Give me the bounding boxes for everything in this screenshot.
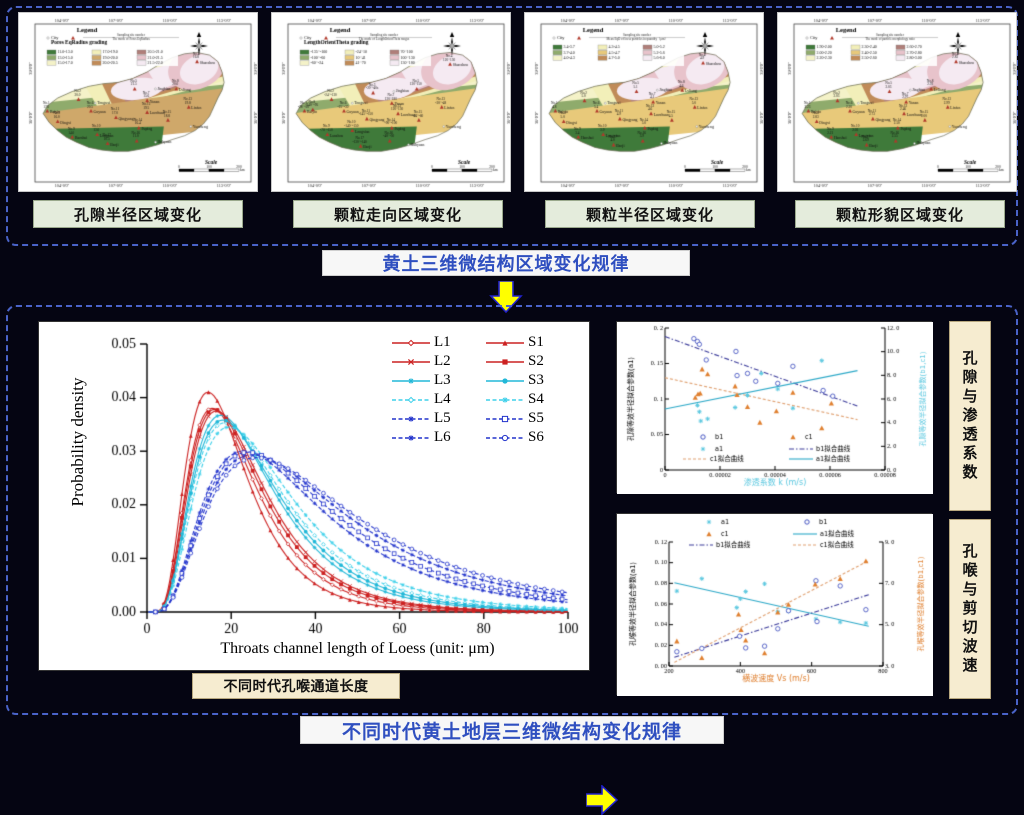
legend-label-S5: S5 — [528, 410, 544, 427]
bottom-caption: 不同时代孔喉通道长度 — [192, 673, 400, 699]
legend-label-L3: L3 — [434, 372, 451, 389]
map-canvas-0 — [19, 13, 258, 192]
legend-item-S4: S4 — [485, 391, 571, 408]
legend-label-L2: L2 — [434, 353, 451, 370]
vertical-label-throat-shear: 孔喉与剪切波速 — [949, 519, 991, 699]
scatter-bottom-canvas — [617, 514, 933, 696]
legend-line-S1 — [485, 338, 525, 348]
legend-item-L2: L2 — [391, 353, 477, 370]
legend-line-L1 — [391, 338, 431, 348]
legend-label-S2: S2 — [528, 353, 544, 370]
legend-label-S1: S1 — [528, 334, 544, 351]
main-chart-legend: L1S1L2S2L3S3L4S4L5S5L6S6 — [391, 334, 571, 446]
legend-item-L3: L3 — [391, 372, 477, 389]
legend-label-L6: L6 — [434, 429, 451, 446]
throat-vs-shear-velocity-chart[interactable] — [616, 513, 932, 695]
bottom-title-banner: 不同时代黄土地层三维微结构变化规律 — [300, 716, 724, 744]
map-card-pore-radius[interactable] — [18, 12, 258, 192]
legend-item-S5: S5 — [485, 410, 571, 427]
legend-line-L3 — [391, 376, 431, 386]
map-caption-row: 孔隙半径区域变化 颗粒走向区域变化 颗粒半径区域变化 颗粒形貌区域变化 — [8, 200, 1016, 232]
map-canvas-1 — [272, 13, 511, 192]
legend-label-S6: S6 — [528, 429, 544, 446]
map-caption-grain-orientation: 颗粒走向区域变化 — [293, 200, 503, 228]
legend-label-L4: L4 — [434, 391, 451, 408]
legend-line-S2 — [485, 357, 525, 367]
map-caption-grain-morphology: 颗粒形貌区域变化 — [795, 200, 1005, 228]
map-row — [8, 12, 1016, 196]
legend-item-S3: S3 — [485, 372, 571, 389]
right-arrow-icon — [586, 785, 618, 815]
map-caption-grain-radius: 颗粒半径区域变化 — [545, 200, 755, 228]
legend-label-L5: L5 — [434, 410, 451, 427]
map-card-grain-radius[interactable] — [524, 12, 764, 192]
map-canvas-2 — [525, 13, 764, 192]
legend-line-L5 — [391, 414, 431, 424]
legend-item-S2: S2 — [485, 353, 571, 370]
legend-line-S4 — [485, 395, 525, 405]
legend-line-L2 — [391, 357, 431, 367]
legend-item-L1: L1 — [391, 334, 477, 351]
legend-label-S3: S3 — [528, 372, 544, 389]
scatter-top-canvas — [617, 322, 933, 494]
legend-line-L4 — [391, 395, 431, 405]
map-card-grain-morphology[interactable] — [777, 12, 1017, 192]
legend-item-S1: S1 — [485, 334, 571, 351]
legend-line-S6 — [485, 433, 525, 443]
legend-item-L4: L4 — [391, 391, 477, 408]
map-card-grain-orientation[interactable] — [271, 12, 511, 192]
legend-line-S5 — [485, 414, 525, 424]
throat-length-pdf-chart[interactable]: Probability density Throats channel leng… — [38, 321, 590, 671]
temporal-variation-panel: Probability density Throats channel leng… — [6, 305, 1018, 715]
regional-variation-panel: 孔隙半径区域变化 颗粒走向区域变化 颗粒半径区域变化 颗粒形貌区域变化 — [6, 6, 1018, 246]
legend-item-L6: L6 — [391, 429, 477, 446]
legend-label-S4: S4 — [528, 391, 544, 408]
legend-line-S3 — [485, 376, 525, 386]
legend-label-L1: L1 — [434, 334, 451, 351]
legend-line-L6 — [391, 433, 431, 443]
map-canvas-3 — [778, 13, 1017, 192]
legend-item-L5: L5 — [391, 410, 477, 427]
map-caption-pore-radius: 孔隙半径区域变化 — [33, 200, 243, 228]
vertical-label-pore-permeability: 孔隙与渗透系数 — [949, 321, 991, 511]
mid-section-banner: 黄土三维微结构区域变化规律 — [322, 250, 690, 276]
legend-item-S6: S6 — [485, 429, 571, 446]
pore-vs-permeability-chart[interactable] — [616, 321, 932, 493]
